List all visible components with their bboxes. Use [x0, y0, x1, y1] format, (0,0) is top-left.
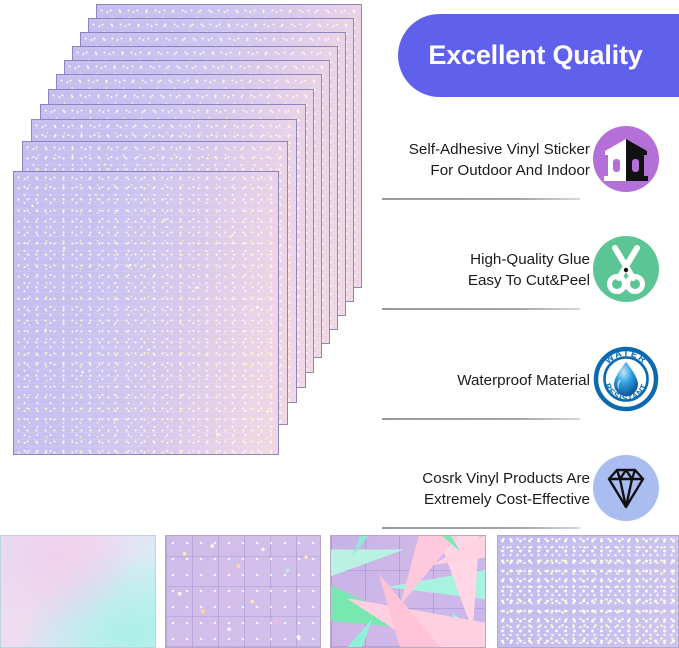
- feature-line: Waterproof Material: [457, 370, 590, 391]
- feature-line: For Outdoor And Indoor: [430, 160, 590, 181]
- feature-row-cost-effective: Cosrk Vinyl Products Are Extremely Cost-…: [380, 455, 679, 538]
- feature-line: Extremely Cost-Effective: [424, 489, 590, 510]
- feature-panel: Excellent Quality Self-Adhesive Vinyl St…: [380, 0, 679, 525]
- diamond-icon: [593, 455, 659, 521]
- feature-row-self-adhesive: Self-Adhesive Vinyl Sticker For Outdoor …: [380, 126, 679, 209]
- quality-banner-title: Excellent Quality: [428, 40, 642, 71]
- feature-divider: [382, 308, 580, 310]
- feature-divider: [382, 198, 580, 200]
- feature-line: Easy To Cut&Peel: [468, 270, 590, 291]
- scissors-icon: [593, 236, 659, 302]
- feature-text: Waterproof Material: [382, 346, 590, 414]
- feature-divider: [382, 527, 580, 529]
- swatch-fine-dots: [497, 535, 679, 648]
- feature-text: Self-Adhesive Vinyl Sticker For Outdoor …: [382, 126, 590, 194]
- indoor-outdoor-house-icon: [593, 126, 659, 192]
- feature-text: High-Quality Glue Easy To Cut&Peel: [382, 236, 590, 304]
- product-image-sheet-stack: [0, 0, 380, 470]
- swatch-iridescent-gradient: [0, 535, 156, 648]
- swatch-sparkle-dots: [165, 535, 321, 648]
- feature-line: Self-Adhesive Vinyl Sticker: [409, 139, 590, 160]
- feature-row-high-quality-glue: High-Quality Glue Easy To Cut&Peel: [380, 236, 679, 319]
- quality-banner: Excellent Quality: [398, 14, 679, 97]
- vinyl-sheet-front: [13, 171, 279, 455]
- feature-row-waterproof: Waterproof Material WATER: [380, 346, 679, 429]
- feature-text: Cosrk Vinyl Products Are Extremely Cost-…: [382, 455, 590, 523]
- feature-line: High-Quality Glue: [470, 249, 590, 270]
- feature-line: Cosrk Vinyl Products Are: [422, 468, 590, 489]
- feature-divider: [382, 418, 580, 420]
- swatch-strip: [0, 535, 679, 648]
- swatch-broken-glass: [330, 535, 486, 648]
- water-resistant-badge-icon: WATER RESISTANT: [593, 346, 659, 412]
